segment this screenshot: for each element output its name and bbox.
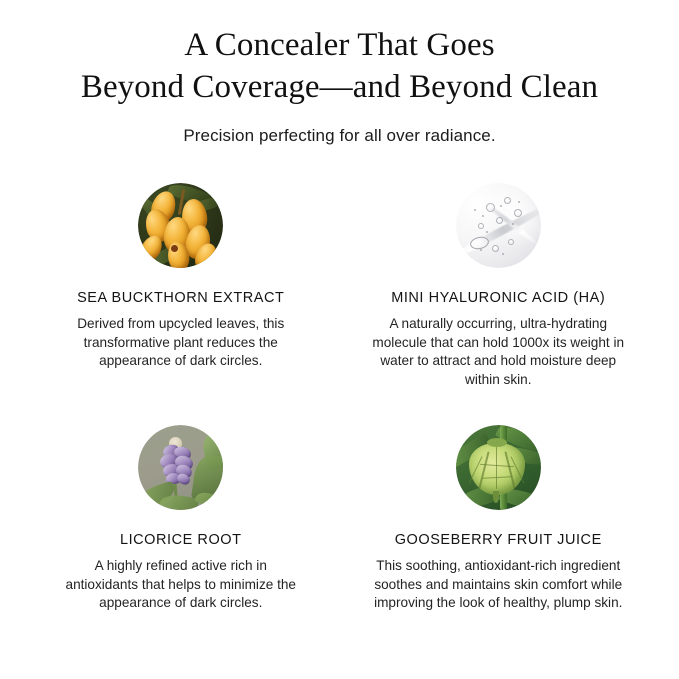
ingredient-name: LICORICE ROOT (120, 531, 242, 549)
ingredient-description: This soothing, antioxidant-rich ingredie… (370, 557, 626, 613)
ingredient-card-sea-buckthorn: SEA BUCKTHORN EXTRACT Derived from upcyc… (22, 183, 340, 389)
bubble-shape (486, 203, 495, 212)
ingredient-name: SEA BUCKTHORN EXTRACT (77, 289, 284, 307)
speck-shape (486, 231, 488, 233)
hyaluronic-acid-image (456, 183, 541, 268)
hyaluronic-acid-photo-art (456, 183, 541, 268)
header: A Concealer That Goes Beyond Coverage—an… (0, 0, 679, 147)
husk-vein (496, 447, 498, 489)
sea-buckthorn-photo-art (138, 183, 223, 268)
bubble-shape (508, 239, 514, 245)
ingredient-grid: SEA BUCKTHORN EXTRACT Derived from upcyc… (0, 183, 679, 613)
bubble-shape (514, 209, 522, 217)
sea-buckthorn-image (138, 183, 223, 268)
headline-line-1: A Concealer That Goes (40, 24, 640, 66)
ingredient-name: MINI HYALURONIC ACID (HA) (391, 289, 605, 307)
ingredient-benefits-panel: A Concealer That Goes Beyond Coverage—an… (0, 0, 679, 679)
bubble-shape (492, 245, 499, 252)
ingredient-card-hyaluronic-acid: MINI HYALURONIC ACID (HA) A naturally oc… (340, 183, 658, 389)
husk-vein (478, 451, 489, 488)
ingredient-description: Derived from upcycled leaves, this trans… (57, 315, 305, 371)
speck-shape (518, 201, 520, 203)
husk-vein (504, 451, 515, 488)
speck-shape (480, 249, 482, 251)
ingredient-card-gooseberry: GOOSEBERRY FRUIT JUICE This soothing, an… (340, 425, 658, 613)
gooseberry-photo-art (456, 425, 541, 510)
speck-shape (512, 223, 514, 225)
husk-tip-shape (493, 491, 499, 503)
page-title: A Concealer That Goes Beyond Coverage—an… (40, 24, 640, 108)
bubble-shape (496, 217, 503, 224)
headline-line-2: Beyond Coverage—and Beyond Clean (40, 66, 640, 108)
gooseberry-image (456, 425, 541, 510)
speck-shape (474, 209, 476, 211)
page-subtitle: Precision perfecting for all over radian… (0, 125, 679, 147)
speck-shape (500, 205, 502, 207)
ingredient-description: A highly refined active rich in antioxid… (57, 557, 305, 613)
ingredient-card-licorice-root: LICORICE ROOT A highly refined active ri… (22, 425, 340, 613)
ingredient-name: GOOSEBERRY FRUIT JUICE (395, 531, 602, 549)
bubble-shape (478, 223, 484, 229)
speck-shape (502, 253, 504, 255)
bubble-shape (504, 197, 511, 204)
licorice-root-photo-art (138, 425, 223, 510)
husk-cap-shape (487, 438, 507, 447)
husk-shape (469, 443, 525, 495)
speck-shape (482, 215, 484, 217)
ingredient-description: A naturally occurring, ultra-hydrating m… (370, 315, 626, 389)
licorice-root-image (138, 425, 223, 510)
